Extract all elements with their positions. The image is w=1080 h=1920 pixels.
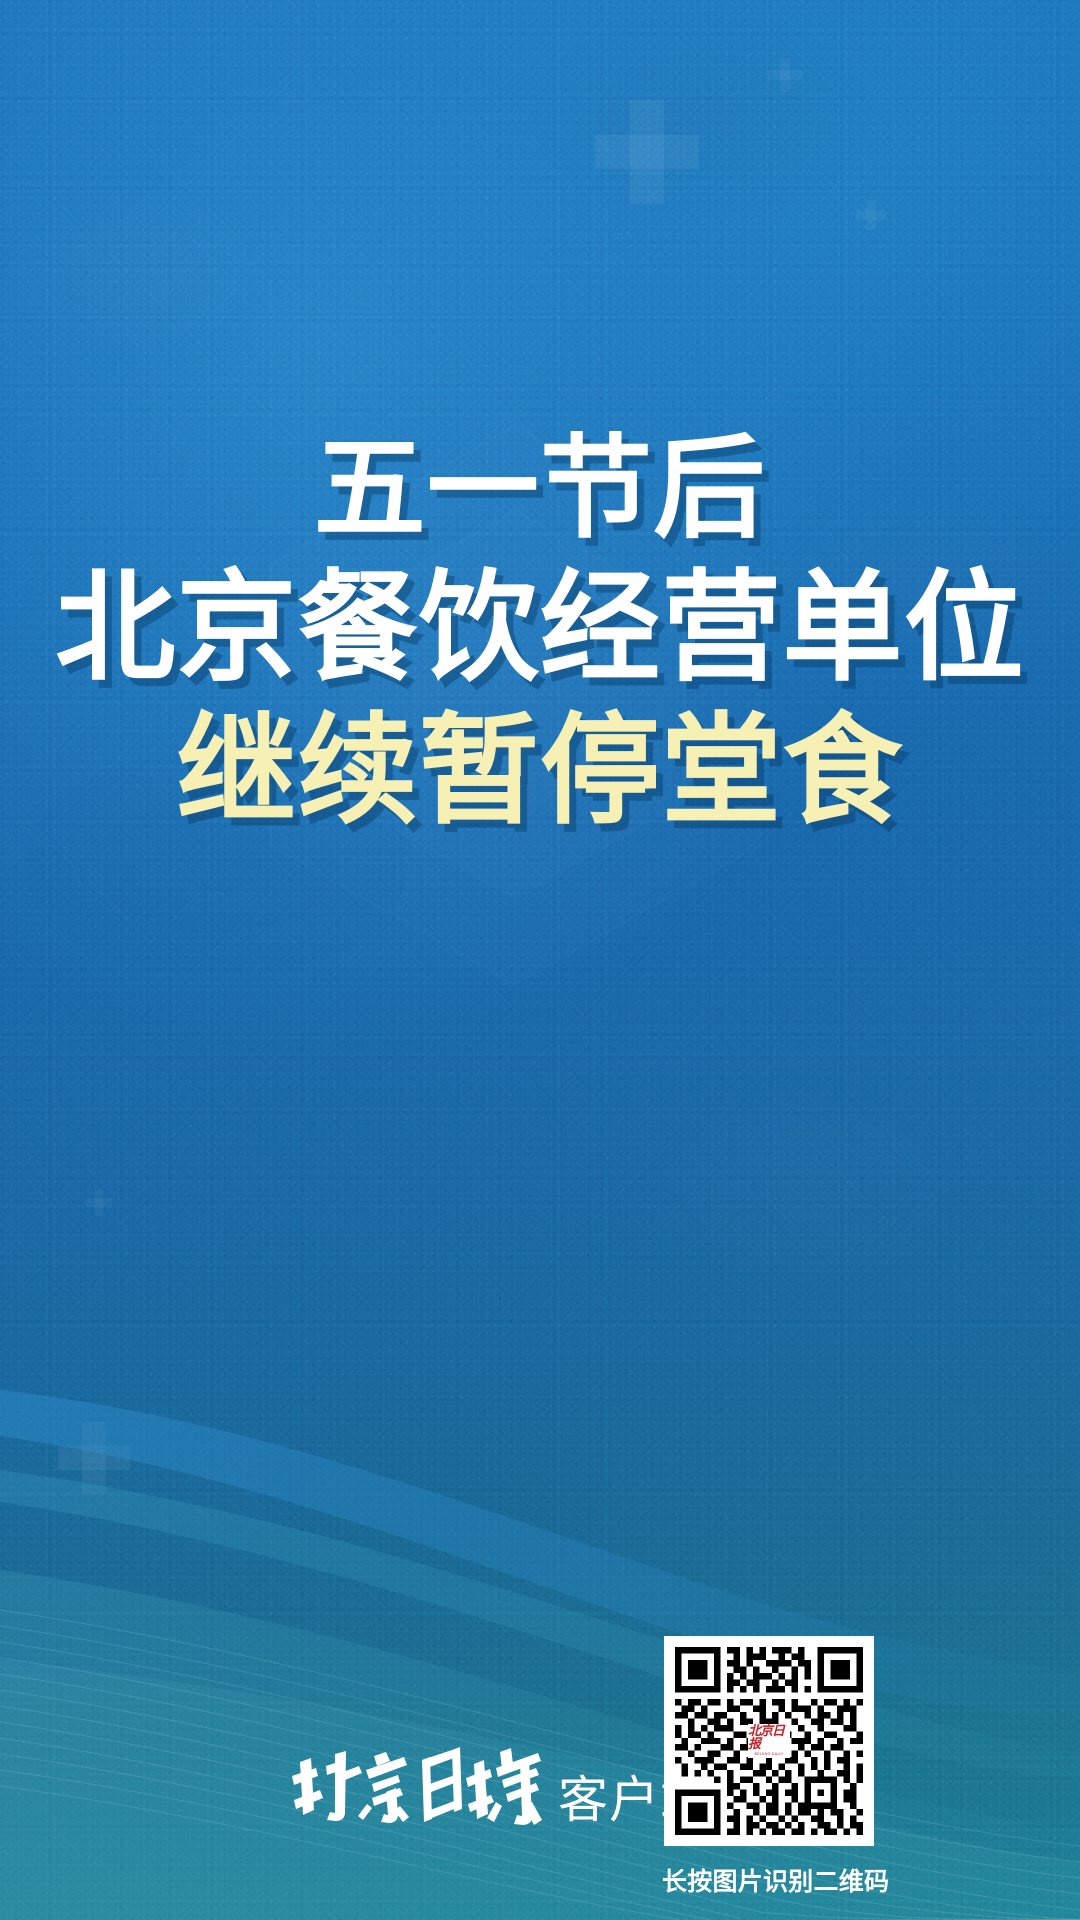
brand-logo: 客户端 bbox=[288, 1742, 711, 1834]
headline-block: 五一节后 北京餐饮经营单位 继续暂停堂食 bbox=[0, 432, 1080, 833]
poster-canvas: 五一节后 北京餐饮经营单位 继续暂停堂食 bbox=[0, 0, 1080, 1920]
background-noise-texture bbox=[0, 0, 1080, 1920]
qr-code-block: 北京日报 BEIJING DAILY 长按图片识别二维码 bbox=[664, 1636, 896, 1898]
headline-line-3: 继续暂停堂食 bbox=[0, 711, 1080, 833]
headline-line-1: 五一节后 bbox=[0, 432, 1080, 546]
qr-code-card[interactable]: 北京日报 BEIJING DAILY bbox=[664, 1636, 874, 1846]
medical-cross-icon bbox=[768, 58, 802, 92]
background-mottle-texture bbox=[0, 0, 1080, 1920]
headline-line-2: 北京餐饮经营单位 bbox=[0, 568, 1080, 690]
medical-cross-icon bbox=[86, 1190, 112, 1216]
medical-cross-icon bbox=[58, 1422, 130, 1494]
wave-ribbons-decoration bbox=[0, 1360, 1080, 1920]
qr-center-logo-en: BEIJING DAILY bbox=[755, 1753, 784, 1757]
medical-cross-icon bbox=[856, 200, 886, 230]
qr-caption-label: 长按图片识别二维码 bbox=[662, 1862, 896, 1898]
beijing-daily-script-logo-icon bbox=[288, 1742, 548, 1834]
qr-center-logo: 北京日报 BEIJING DAILY bbox=[748, 1724, 790, 1758]
medical-cross-icon bbox=[595, 100, 699, 204]
qr-center-logo-zh: 北京日报 bbox=[748, 1725, 790, 1751]
